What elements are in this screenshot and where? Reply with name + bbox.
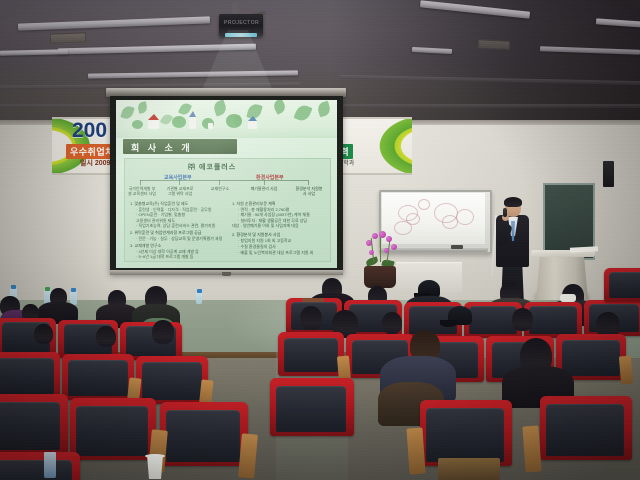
whiteboard-marking — [394, 221, 412, 235]
whiteboard — [382, 193, 485, 244]
banner-year-text: 200 — [72, 119, 107, 143]
orchid-flower — [391, 244, 397, 250]
audience-head — [512, 308, 533, 331]
seat-cushion — [469, 306, 517, 334]
seat-cushion — [0, 460, 72, 480]
bottle-cap — [197, 289, 202, 293]
water-bottle — [196, 292, 202, 304]
stage-object — [302, 298, 324, 302]
org-connector-tick — [264, 180, 265, 185]
right-bullet-8: · 배출 및 노인복지회관 대상 프로그램 지원 외 — [238, 250, 313, 255]
left-bullet-4: · 직업기초능력, 상담·훈련서비스 관련, 평가지원 — [136, 223, 215, 228]
org-column-2: 교재연구소 — [206, 186, 234, 191]
bottle-cap — [71, 288, 76, 292]
org-connector-tick — [179, 180, 180, 185]
audience-head — [152, 320, 174, 344]
white-garment-detail — [560, 294, 576, 302]
leaf-icon — [316, 101, 331, 118]
projector-lens — [225, 33, 257, 37]
orchid-pot — [364, 266, 396, 288]
right-bullet-0: 1. 자원 순환관리부문 계획 — [232, 201, 275, 206]
orchid-flower — [366, 240, 372, 246]
water-bottle — [44, 452, 56, 478]
left-bullet-9: · 5~6년 1급 대학 프로그램 개발 등 — [136, 254, 194, 259]
org-column-3: 폐기물관리 사업 — [250, 186, 278, 191]
presenter-hair — [504, 197, 522, 207]
projector-brand-label: PROJECTOR — [224, 20, 259, 26]
seat-writing-tablet — [438, 458, 500, 480]
leaf-icon — [212, 100, 228, 117]
right-bullet-7: · 수질 환경물질의 검사 — [238, 244, 276, 249]
seat-cushion — [166, 410, 240, 462]
bottle-cap — [11, 285, 16, 289]
house-icon — [148, 120, 159, 129]
tree-icon — [132, 120, 143, 129]
leaf-icon — [160, 112, 173, 126]
house-icon — [208, 123, 213, 129]
right-bullet-4: 대상 : 일반폐기물 이외 및 사업자에 대응 — [232, 223, 299, 228]
whiteboard-marking — [418, 199, 430, 210]
org-column-0: 국가인력개발 부설 교육센터 사업 — [128, 186, 156, 196]
whiteboard-marking — [456, 209, 474, 225]
banner-subtitle-left: 일시 2009. — [80, 158, 112, 168]
projection-screen-pull-tab — [222, 272, 231, 276]
presentation-slide: 회 사 소 개 ㈜ 에코플러스 교육사업본부 환경사업본부 국가인력개발 부설 … — [116, 100, 337, 268]
house-roof-icon — [248, 116, 257, 121]
left-bullet-5: 2. 위탁훈련 및 취업연계과정 프로그램 공급 — [130, 230, 201, 235]
org-connector-tick — [308, 180, 309, 185]
seat-cushion — [76, 406, 148, 456]
left-bullet-0: 1. 맞춤형교육(주) 직업훈련 및 제도 — [130, 201, 188, 206]
seat-cushion — [142, 362, 202, 400]
seat-cushion — [562, 340, 620, 376]
leaf-icon — [272, 100, 288, 115]
seat-cushion — [426, 408, 504, 462]
whiteboard-eraser — [451, 245, 463, 249]
bottle-cap — [45, 287, 50, 291]
seat-armrest — [406, 427, 425, 474]
tower-icon — [189, 117, 196, 129]
photograph-scene: PROJECTOR 200 수회 우수취업처 산학협력 일시 2009. 학교 … — [0, 0, 640, 480]
audience-head — [34, 324, 53, 344]
audience-head — [300, 306, 322, 330]
orchid-stem — [380, 236, 381, 262]
seat-cushion — [529, 306, 577, 334]
cap-brim — [440, 320, 457, 327]
org-connector-tick — [219, 180, 220, 185]
seat-cushion — [546, 404, 624, 456]
tree-icon — [172, 116, 186, 128]
seat-cushion — [0, 402, 60, 450]
right-bullet-5: 2. 환경분석 및 지원봉사 사업 — [232, 232, 280, 237]
seat-cushion — [276, 386, 346, 432]
org-column-1: 기관별 교재프로그램 위탁 사업 — [166, 186, 194, 196]
orchid-flower — [372, 233, 378, 239]
ceiling-vent — [50, 32, 86, 43]
orchid-flower — [379, 231, 386, 238]
tree-icon — [226, 114, 242, 128]
seat-cushion — [68, 360, 128, 396]
right-bullet-6: · 창업지원 지원 1회 외 고등학교 — [238, 238, 291, 243]
left-bullet-6: · 전문 · 기능 · 실무 · 상담교육 및 운영기획평가 과정 — [136, 236, 222, 241]
slide-org-title: ㈜ 에코플러스 — [188, 162, 236, 172]
orchid-flower — [369, 250, 374, 255]
seat-cushion — [609, 272, 640, 298]
org-connector-horizontal — [140, 180, 308, 181]
audience-head — [382, 312, 402, 334]
org-connector-tick — [140, 180, 141, 185]
left-bullet-2: · OPEN훈련 · 기업별, 맞춤형 — [136, 212, 185, 217]
tower-roof-icon — [189, 111, 196, 117]
audience-head — [96, 326, 116, 347]
ceiling-vent — [478, 39, 510, 50]
org-column-4: 환경분석 지원봉사 사업 — [294, 186, 324, 196]
house-roof-icon — [148, 114, 159, 120]
house-icon — [248, 121, 257, 129]
orchid-flower — [386, 236, 392, 242]
seat-armrest — [522, 425, 541, 472]
right-bullet-2: · 폐기물 : 50개 사업장 (400T/연) 계약 체결 — [238, 212, 310, 217]
wall-speaker — [603, 161, 614, 187]
leaf-icon — [137, 101, 148, 114]
projection-screen: 회 사 소 개 ㈜ 에코플러스 교육사업본부 환경사업본부 국가인력개발 부설 … — [116, 100, 337, 268]
leaf-icon — [120, 105, 134, 121]
microphone-icon — [503, 208, 507, 217]
slide-title-text: 회 사 소 개 — [131, 141, 193, 154]
left-bullet-7: 3. 교재개발 연구소 — [130, 243, 161, 248]
leaf-icon — [294, 103, 313, 123]
ceiling-shadow-right — [330, 0, 640, 132]
orchid-flower — [384, 248, 389, 253]
slide-header-illustration — [116, 100, 337, 138]
seat-armrest — [619, 356, 633, 385]
seat-cushion — [284, 338, 338, 372]
seat-cushion — [0, 358, 54, 394]
